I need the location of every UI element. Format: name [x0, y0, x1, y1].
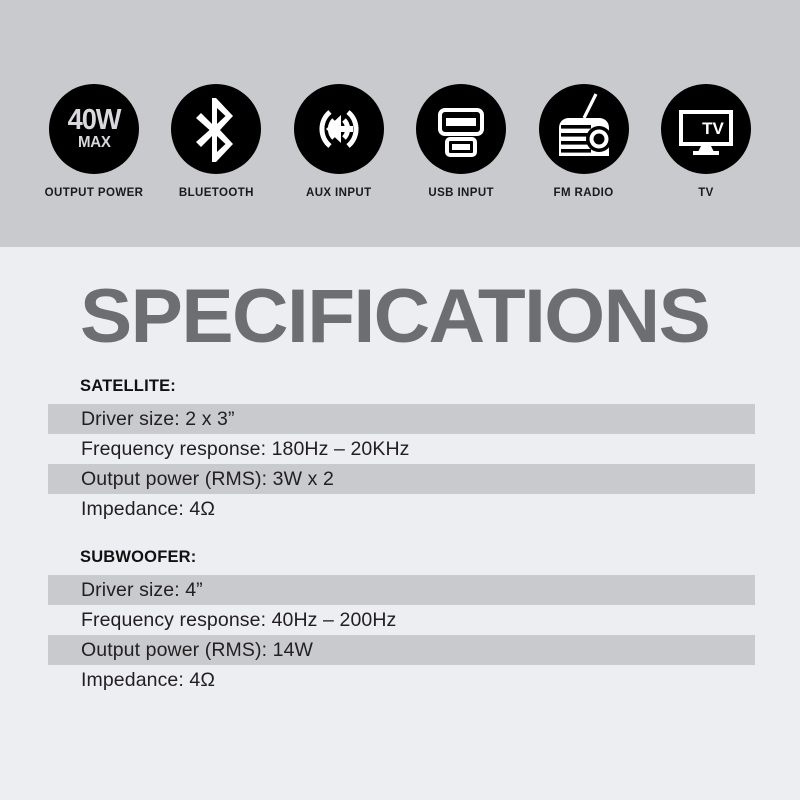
usb-input-icon [416, 84, 506, 174]
tv-icon: TV [661, 84, 751, 174]
feature-label-fm-radio: FM RADIO [554, 187, 614, 199]
spec-row: Output power (RMS): 3W x 2 [48, 464, 755, 494]
spec-group-heading-subwoofer: SUBWOOFER: [48, 547, 734, 567]
feature-usb-input[interactable]: USB INPUT [405, 84, 517, 199]
spec-row: Driver size: 4” [48, 575, 755, 605]
spec-group-satellite: SATELLITE: Driver size: 2 x 3” Frequency… [48, 376, 755, 524]
spec-row: Impedance: 4Ω [48, 494, 755, 524]
spec-row: Driver size: 2 x 3” [48, 404, 755, 434]
feature-label-aux-input: AUX INPUT [306, 187, 372, 199]
specifications-panel: SPECIFICATIONS SATELLITE: Driver size: 2… [0, 247, 800, 800]
spec-row: Frequency response: 40Hz – 200Hz [48, 605, 755, 635]
fm-radio-icon [539, 84, 629, 174]
feature-label-usb-input: USB INPUT [428, 187, 494, 199]
feature-tv[interactable]: TV TV [650, 84, 762, 199]
aux-input-icon [294, 84, 384, 174]
feature-icon-row: 40W MAX OUTPUT POWER BLUETOOTH [38, 84, 762, 199]
bluetooth-icon [171, 84, 261, 174]
feature-label-bluetooth: BLUETOOTH [179, 187, 254, 199]
feature-label-output-power: OUTPUT POWER [45, 187, 144, 199]
svg-text:TV: TV [702, 119, 724, 138]
wattage-icon: 40W MAX [49, 84, 139, 174]
feature-label-tv: TV [698, 187, 714, 199]
feature-fm-radio[interactable]: FM RADIO [528, 84, 640, 199]
feature-band: 40W MAX OUTPUT POWER BLUETOOTH [0, 0, 800, 247]
spec-row: Impedance: 4Ω [48, 665, 755, 695]
feature-output-power[interactable]: 40W MAX OUTPUT POWER [38, 84, 150, 199]
spec-group-heading-satellite: SATELLITE: [48, 376, 734, 396]
wattage-max-label: MAX [78, 136, 111, 151]
feature-aux-input[interactable]: AUX INPUT [283, 84, 395, 199]
spec-row: Output power (RMS): 14W [48, 635, 755, 665]
feature-bluetooth[interactable]: BLUETOOTH [160, 84, 272, 199]
specifications-title: SPECIFICATIONS [80, 279, 709, 355]
wattage-value: 40W [68, 107, 121, 134]
spec-group-subwoofer: SUBWOOFER: Driver size: 4” Frequency res… [48, 547, 755, 695]
spec-row: Frequency response: 180Hz – 20KHz [48, 434, 755, 464]
infographic-sheet: 40W MAX OUTPUT POWER BLUETOOTH [0, 0, 800, 800]
